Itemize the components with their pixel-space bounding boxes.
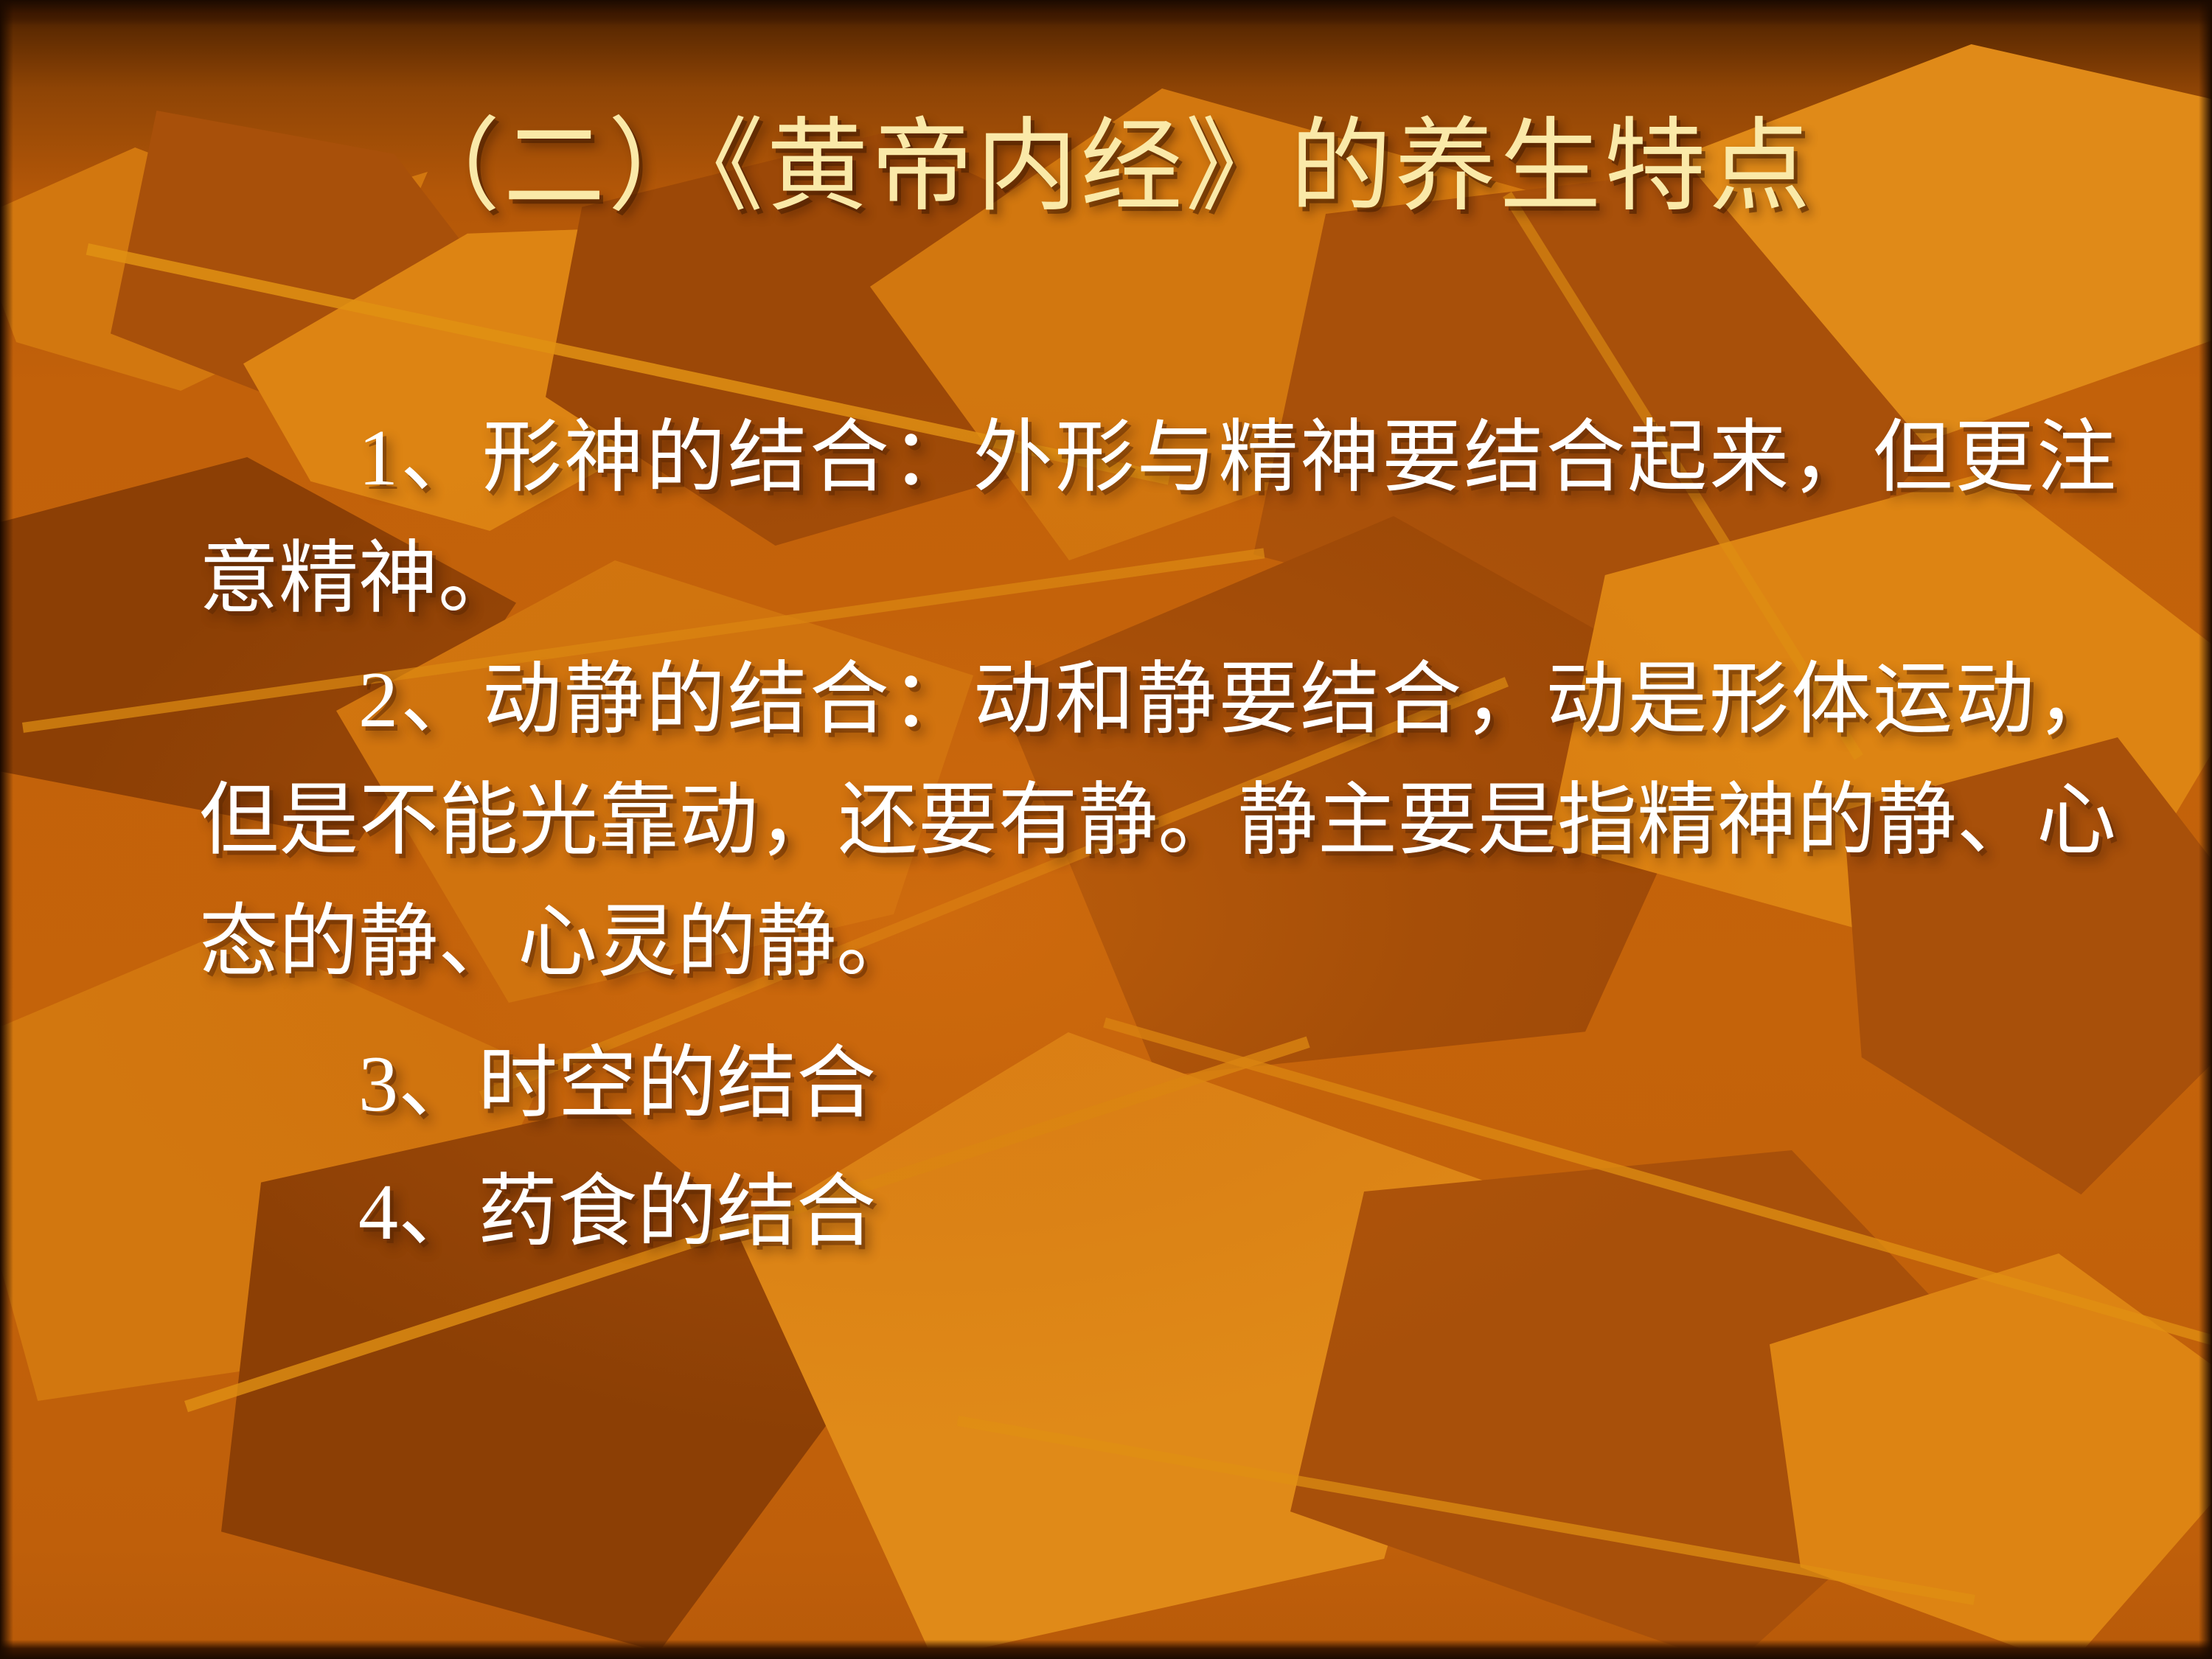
slide-content: （二）《黄帝内经》的养生特点 1、形神的结合：外形与精神要结合起来，但更注意精神… (0, 0, 2212, 1659)
slide-body: 1、形神的结合：外形与精神要结合起来，但更注意精神。 2、动静的结合：动和静要结… (199, 398, 2116, 1273)
body-paragraph: 2、动静的结合：动和静要结合，动是形体运动，但是不能光靠动，还要有静。静主要是指… (199, 640, 2116, 1003)
body-paragraph: 1、形神的结合：外形与精神要结合起来，但更注意精神。 (199, 398, 2116, 640)
body-paragraph: 4、药食的结合 (199, 1152, 2116, 1273)
slide-title: （二）《黄帝内经》的养生特点 (0, 111, 2212, 225)
body-paragraph: 3、时空的结合 (199, 1024, 2116, 1145)
presentation-slide: （二）《黄帝内经》的养生特点 1、形神的结合：外形与精神要结合起来，但更注意精神… (0, 0, 2212, 1659)
